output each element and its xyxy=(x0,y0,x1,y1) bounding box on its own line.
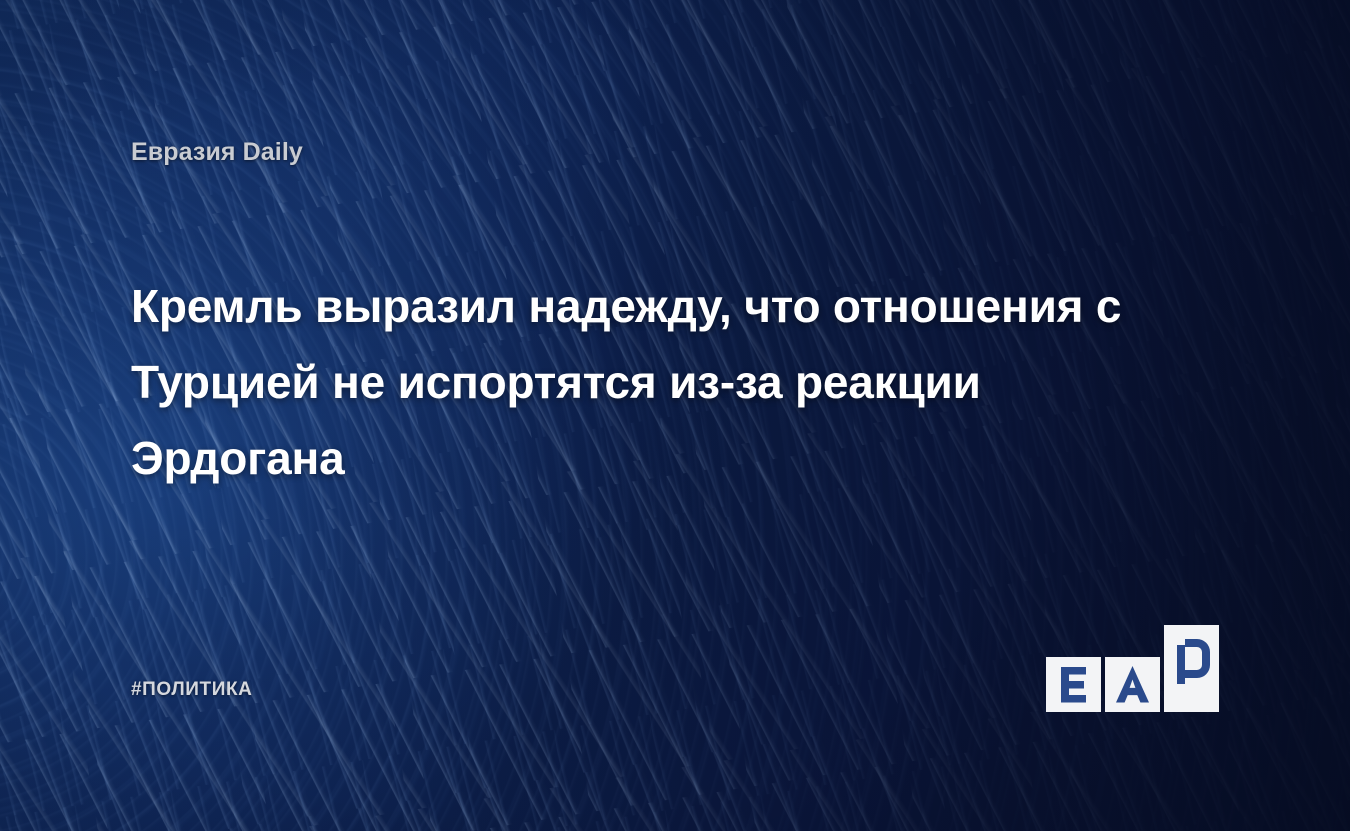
card-content: Евразия Daily Кремль выразил надежду, чт… xyxy=(0,0,1350,831)
brand-name: Евразия Daily xyxy=(131,138,303,167)
article-headline: Кремль выразил надежду, что отношения с … xyxy=(131,268,1141,496)
logo-tile-d-bottom xyxy=(1164,657,1219,712)
news-share-card: Евразия Daily Кремль выразил надежду, чт… xyxy=(0,0,1350,831)
category-tag: #ПОЛИТИКА xyxy=(131,679,253,701)
logo-tile-a xyxy=(1105,657,1160,712)
logo-tile-e xyxy=(1046,657,1101,712)
ead-logo xyxy=(1046,625,1220,712)
